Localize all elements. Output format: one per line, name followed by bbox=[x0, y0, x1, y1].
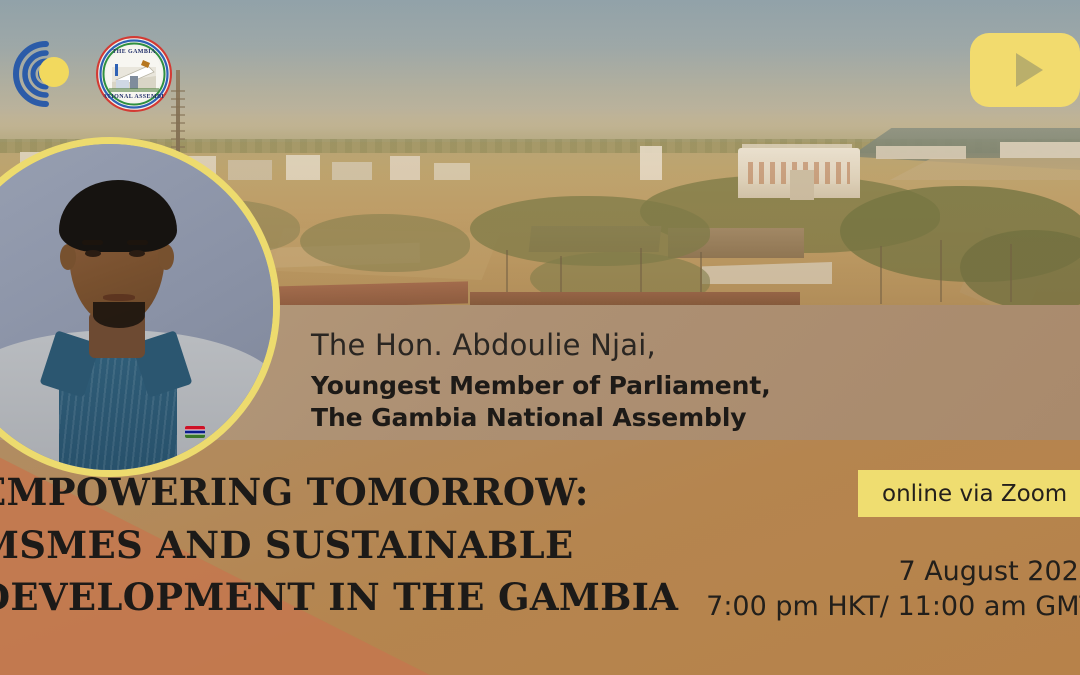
speaker-role-line-2: The Gambia National Assembly bbox=[311, 402, 771, 434]
avatar-mouth bbox=[103, 294, 135, 301]
play-triangle-icon bbox=[1016, 53, 1043, 87]
speaker-details: The Hon. Abdoulie Njai, Youngest Member … bbox=[311, 328, 771, 433]
event-poster: THE GAMBIA NATIONAL ASSEMBLY The Hon. Ab… bbox=[0, 0, 1080, 675]
swirl-arcs-logo-icon bbox=[6, 36, 82, 112]
page-title: EMPOWERING TOMORROW: MSMES AND SUSTAINAB… bbox=[0, 466, 698, 624]
event-time: 7:00 pm HKT/ 11:00 am GMT bbox=[706, 590, 1080, 625]
title-line-3: DEVELOPMENT IN THE GAMBIA bbox=[0, 571, 698, 624]
avatar-eye-left bbox=[85, 250, 101, 257]
youtube-play-icon[interactable] bbox=[970, 33, 1080, 107]
gambia-flag-pin-icon bbox=[185, 426, 205, 438]
avatar-eye-right bbox=[129, 250, 145, 257]
avatar-brow-right bbox=[127, 240, 148, 245]
national-assembly-seal-icon: THE GAMBIA NATIONAL ASSEMBLY bbox=[96, 36, 172, 112]
speaker-role-line-1: Youngest Member of Parliament, bbox=[311, 370, 771, 402]
seal-top-text: THE GAMBIA bbox=[96, 49, 172, 55]
event-date: 7 August 2023 bbox=[706, 555, 1080, 590]
title-line-2: MSMES AND SUSTAINABLE bbox=[0, 519, 698, 572]
avatar-beard bbox=[93, 302, 145, 328]
speaker-name: The Hon. Abdoulie Njai, bbox=[311, 328, 771, 363]
title-line-1: EMPOWERING TOMORROW: bbox=[0, 466, 698, 519]
avatar-brow-left bbox=[82, 240, 103, 245]
venue-badge: online via Zoom bbox=[858, 470, 1080, 517]
seal-bottom-text: NATIONAL ASSEMBLY bbox=[96, 94, 172, 100]
avatar bbox=[0, 137, 280, 477]
venue-badge-label: online via Zoom bbox=[882, 481, 1067, 507]
speaker-role: Youngest Member of Parliament, The Gambi… bbox=[311, 370, 771, 433]
event-datetime: 7 August 2023 7:00 pm HKT/ 11:00 am GMT bbox=[706, 555, 1080, 624]
